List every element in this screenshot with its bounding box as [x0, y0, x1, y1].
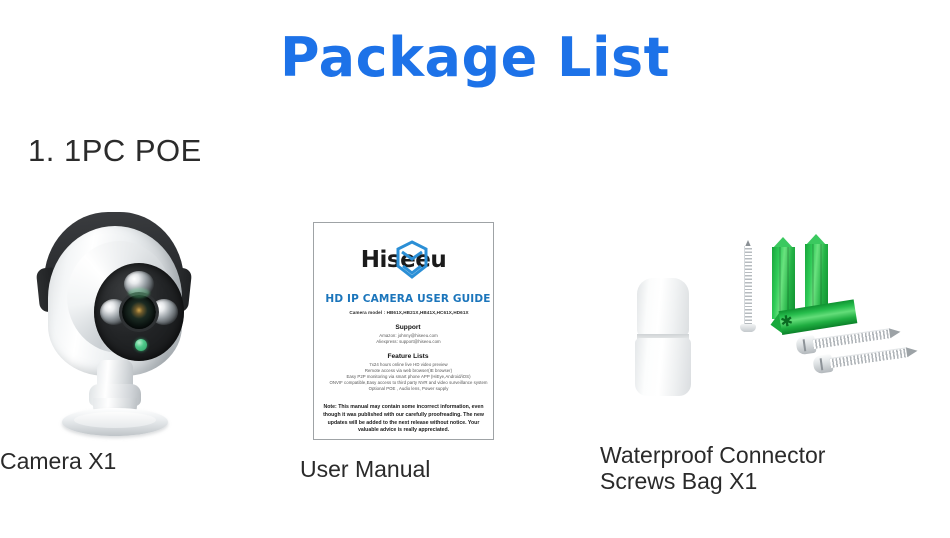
- user-manual-cover: Hiseeu HD IP CAMERA USER GUIDE Camera mo…: [313, 222, 494, 440]
- manual-feature-line: Optional POE , Audio lens, Power supply: [324, 386, 493, 391]
- package-item-manual: Hiseeu HD IP CAMERA USER GUIDE Camera mo…: [300, 200, 600, 440]
- package-items-row: Hiseeu HD IP CAMERA USER GUIDE Camera mo…: [0, 200, 950, 510]
- caption-manual: User Manual: [300, 456, 600, 482]
- manual-support-line: Amazon: johnny@hiseeu.com: [324, 333, 493, 338]
- caption-camera: Camera X1: [0, 448, 300, 474]
- screw-vertical-icon: [740, 240, 756, 334]
- package-list-page: Package List 1. 1PC POE: [0, 0, 950, 538]
- wall-anchor-vertical-icon: [772, 237, 795, 319]
- connector-upper-body: [637, 278, 689, 336]
- manual-support-line: Aliexpress: support@hiseeu.com: [324, 339, 493, 344]
- waterproof-connector-icon: [635, 278, 691, 396]
- manual-feature-line: ONVIF compatible,Easy access to third pa…: [324, 380, 493, 385]
- manual-feature-line: Easy P2P monitoring via smart phone APP …: [324, 374, 493, 379]
- mount-screw-hole-right: [142, 415, 149, 419]
- package-item-camera: [0, 200, 300, 440]
- screw-shaft: [813, 328, 892, 349]
- parts-figure: ✱: [600, 200, 950, 440]
- camera-lens-icon: [122, 295, 156, 329]
- manual-model-line: Camera model : HB61X,HB21X,HB41X,HC61X,H…: [325, 310, 493, 315]
- camera-mount-base: [62, 408, 168, 436]
- camera-figure: [0, 200, 300, 440]
- manual-feature-line: Remote access via web browser(IE browser…: [324, 368, 493, 373]
- manual-note: Note: This manual may contain some incor…: [323, 404, 484, 435]
- caption-parts: Waterproof Connector Screws Bag X1: [600, 442, 950, 495]
- page-title: Package List: [0, 26, 950, 89]
- light-sensor-icon: [135, 339, 147, 351]
- manual-feature-line: 7x24 hours online live HD video preview: [324, 362, 493, 367]
- shield-logo-icon: [395, 240, 429, 280]
- section-heading: 1. 1PC POE: [28, 133, 202, 169]
- manual-title: HD IP CAMERA USER GUIDE: [323, 293, 493, 305]
- screw-tip: [906, 346, 918, 357]
- anchor-star-hole: ✱: [779, 314, 794, 329]
- manual-features-heading: Feature Lists: [323, 353, 493, 360]
- screw-shaft: [744, 246, 752, 326]
- connector-lower-body: [635, 338, 691, 396]
- camera-front-face: [94, 263, 184, 361]
- bullet-camera-icon: [36, 208, 206, 440]
- anchor-ridge: [787, 247, 789, 319]
- screw-head: [740, 324, 756, 332]
- manual-figure: Hiseeu HD IP CAMERA USER GUIDE Camera mo…: [300, 200, 600, 440]
- anchor-ridge: [779, 247, 781, 319]
- package-item-parts: ✱: [600, 200, 950, 440]
- camera-body: [48, 226, 182, 376]
- manual-support-heading: Support: [323, 324, 493, 331]
- screw-tip: [889, 327, 901, 338]
- screw-shaft: [830, 347, 909, 368]
- hiseeu-logo: Hiseeu: [348, 243, 460, 279]
- camera-bezel-ring: [67, 241, 172, 353]
- mount-screw-hole-left: [81, 415, 88, 419]
